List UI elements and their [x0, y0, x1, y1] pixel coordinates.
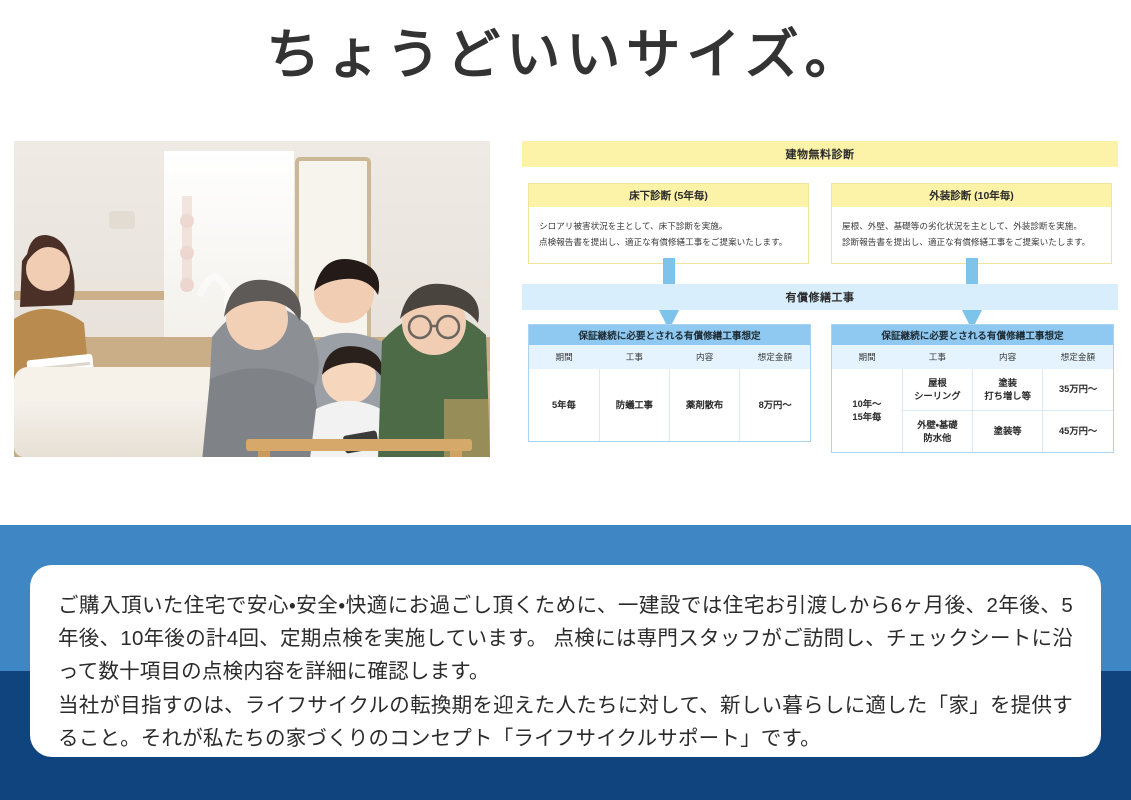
cell-period: 5年毎 — [529, 369, 599, 441]
col-amount: 想定金額 — [740, 345, 810, 369]
table-header-row: 期間 工事 内容 想定金額 — [529, 345, 810, 369]
callout-paragraph-1: ご購入頂いた住宅で安心・安全・快適にお過ごし頂くために、一建設では住宅お引渡しか… — [58, 589, 1073, 689]
family-living-room-photo — [14, 141, 490, 457]
repair-table-exterior-grid: 期間 工事 内容 想定金額 10年〜 15年毎 屋根 シー — [832, 345, 1113, 452]
maintenance-diagram: 建物無料診断 床下診断 (5年毎) シロアリ被害状況を主として、床下診断を実施。… — [522, 141, 1118, 466]
work-line-1: 外壁・基礎 — [917, 420, 957, 430]
col-period: 期間 — [529, 345, 599, 369]
repair-table-exterior: 保証継続に必要とされる有償修繕工事想定 期間 工事 内容 想定金額 10年〜 1… — [831, 324, 1114, 453]
page-root: ちょうどいいサイズ。 — [0, 0, 1131, 800]
col-content: 内容 — [973, 345, 1043, 369]
repair-table-floor-title: 保証継続に必要とされる有償修繕工事想定 — [529, 325, 810, 345]
cell-amount: 45万円〜 — [1043, 411, 1113, 453]
cell-work: 防蟻工事 — [599, 369, 669, 441]
cell-work: 屋根 シーリング — [902, 369, 972, 411]
inspection-box-exterior-body: 屋根、外壁、基礎等の劣化状況を主として、外装診断を実施。 診断報告書を提出し、適… — [832, 207, 1111, 263]
repair-table-floor-grid: 期間 工事 内容 想定金額 5年毎 防蟻工事 薬剤散布 8万円〜 — [529, 345, 810, 441]
cell-amount: 8万円〜 — [740, 369, 810, 441]
col-work: 工事 — [599, 345, 669, 369]
inspection-box-exterior-title: 外装診断 (10年毎) — [832, 184, 1111, 207]
inspection-exterior-line-1: 屋根、外壁、基礎等の劣化状況を主として、外装診断を実施。 — [842, 218, 1101, 234]
table-row: 5年毎 防蟻工事 薬剤散布 8万円〜 — [529, 369, 810, 441]
table-header-row: 期間 工事 内容 想定金額 — [832, 345, 1113, 369]
content-line-1: 塗装 — [998, 378, 1017, 388]
col-amount: 想定金額 — [1043, 345, 1113, 369]
content-line-2: 打ち増し等 — [984, 391, 1031, 401]
period-line-1: 10年〜 — [852, 399, 881, 409]
page-title: ちょうどいいサイズ。 — [0, 26, 1131, 85]
col-work: 工事 — [902, 345, 972, 369]
cell-amount: 35万円〜 — [1043, 369, 1113, 411]
work-line-1: 屋根 — [928, 378, 947, 388]
cell-work: 外壁・基礎 防水他 — [902, 411, 972, 453]
inspection-column-floor: 床下診断 (5年毎) シロアリ被害状況を主として、床下診断を実施。 点検報告書を… — [528, 183, 809, 264]
inspection-column-exterior: 外装診断 (10年毎) 屋根、外壁、基礎等の劣化状況を主として、外装診断を実施。… — [831, 183, 1112, 264]
callout-paragraph-2: 当社が目指すのは、ライフサイクルの転換期を迎えた人たちに対して、新しい暮らしに適… — [58, 689, 1073, 755]
period-line-2: 15年毎 — [852, 412, 881, 422]
repair-table-floor: 保証継続に必要とされる有償修繕工事想定 期間 工事 内容 想定金額 5年毎 防蟻… — [528, 324, 811, 442]
inspection-floor-line-1: シロアリ被害状況を主として、床下診断を実施。 — [539, 218, 798, 234]
cell-period-span: 10年〜 15年毎 — [832, 369, 902, 452]
diagram-mid-band: 有償修繕工事 — [522, 284, 1118, 310]
col-period: 期間 — [832, 345, 902, 369]
inspection-box-exterior: 外装診断 (10年毎) 屋根、外壁、基礎等の劣化状況を主として、外装診断を実施。… — [831, 183, 1112, 264]
table-row: 10年〜 15年毎 屋根 シーリング 塗装 打ち増し等 35万円〜 — [832, 369, 1113, 411]
repair-table-exterior-title: 保証継続に必要とされる有償修繕工事想定 — [832, 325, 1113, 345]
cell-content: 塗装等 — [973, 411, 1043, 453]
inspection-floor-line-2: 点検報告書を提出し、適正な有償修繕工事をご提案いたします。 — [539, 234, 798, 250]
work-line-2: シーリング — [914, 391, 961, 401]
concept-callout-card: ご購入頂いた住宅で安心・安全・快適にお過ごし頂くために、一建設では住宅お引渡しか… — [30, 565, 1101, 757]
inspection-box-floor-body: シロアリ被害状況を主として、床下診断を実施。 点検報告書を提出し、適正な有償修繕… — [529, 207, 808, 263]
diagram-top-band: 建物無料診断 — [522, 141, 1118, 167]
cell-content: 薬剤散布 — [670, 369, 740, 441]
work-line-2: 防水他 — [923, 433, 951, 443]
col-content: 内容 — [670, 345, 740, 369]
inspection-box-floor-title: 床下診断 (5年毎) — [529, 184, 808, 207]
inspection-exterior-line-2: 診断報告書を提出し、適正な有償修繕工事をご提案いたします。 — [842, 234, 1101, 250]
cell-content: 塗装 打ち増し等 — [973, 369, 1043, 411]
inspection-box-floor: 床下診断 (5年毎) シロアリ被害状況を主として、床下診断を実施。 点検報告書を… — [528, 183, 809, 264]
